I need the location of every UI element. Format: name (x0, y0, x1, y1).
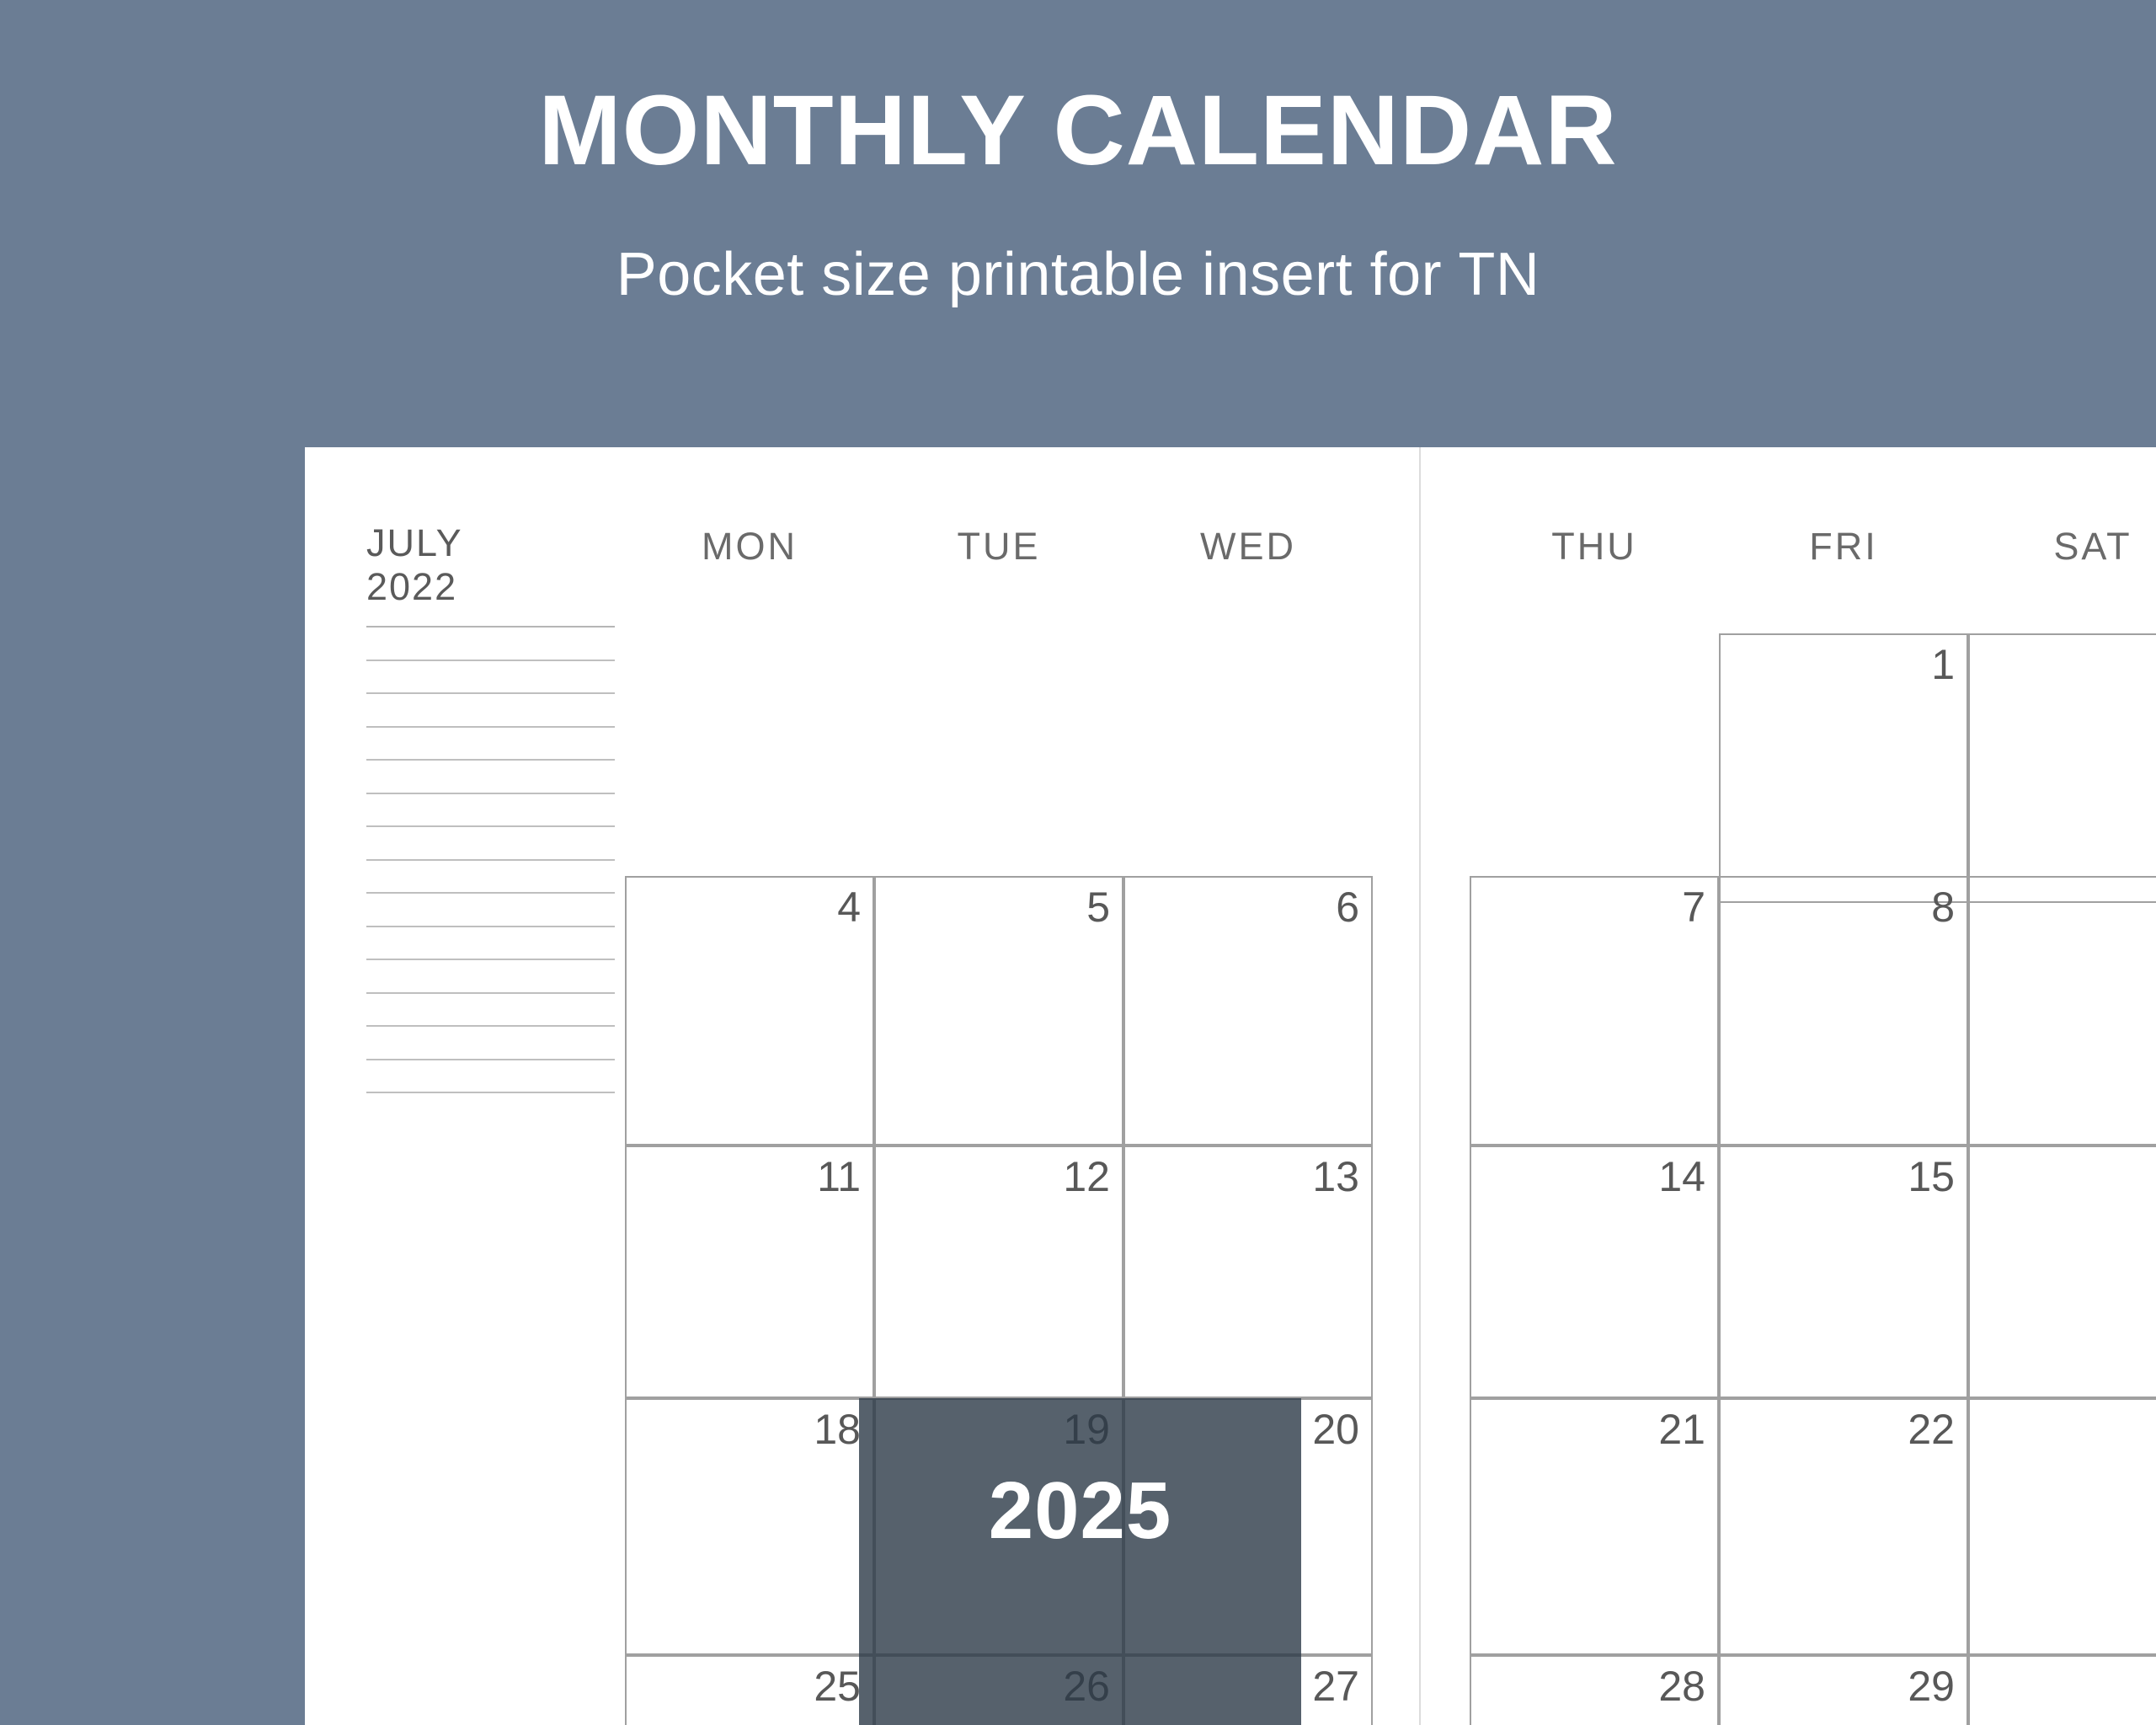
date-number: 6 (1336, 883, 1359, 932)
year-overlay-label: 2025 (859, 1471, 1301, 1551)
date-cell-wed-w3[interactable]: 13 (1123, 1146, 1373, 1398)
calendar-page-sheet: JULY 2022 MON TUE WED THU FRI SAT 1 4 5 … (305, 447, 2156, 1725)
date-number: 15 (1908, 1152, 1955, 1201)
date-cell-thu-w2[interactable]: 7 (1470, 876, 1719, 1146)
date-number: 1 (1931, 640, 1955, 689)
header-band: MONTHLY CALENDAR Pocket size printable i… (0, 0, 2156, 447)
date-number: 4 (837, 883, 861, 932)
sidebar-note-line[interactable] (366, 1059, 615, 1060)
date-cell-fri-w2[interactable]: 8 (1719, 876, 1968, 1146)
day-header-thu: THU (1470, 521, 1719, 572)
day-header-tue: TUE (874, 521, 1123, 572)
day-header-mon: MON (625, 521, 874, 572)
sidebar-note-line[interactable] (366, 959, 615, 960)
date-number: 27 (1312, 1662, 1359, 1711)
date-cell-mon-w5[interactable]: 25 (625, 1655, 874, 1725)
date-number: 28 (1658, 1662, 1705, 1711)
date-cell-tue-w3[interactable]: 12 (874, 1146, 1123, 1398)
date-number: 29 (1908, 1662, 1955, 1711)
date-number: 22 (1908, 1405, 1955, 1454)
sidebar-note-line[interactable] (366, 726, 615, 728)
date-cell-wed-w2[interactable]: 6 (1123, 876, 1373, 1146)
date-number: 5 (1086, 883, 1110, 932)
date-number: 21 (1658, 1405, 1705, 1454)
date-cell-mon-w4[interactable]: 18 (625, 1398, 874, 1655)
date-cell-sat-w1[interactable] (1968, 633, 2156, 903)
date-cell-thu-w5[interactable]: 28 (1470, 1655, 1719, 1725)
date-cell-sat-w2[interactable] (1968, 876, 2156, 1146)
date-cell-tue-w2[interactable]: 5 (874, 876, 1123, 1146)
sidebar-note-line[interactable] (366, 926, 615, 927)
date-number: 20 (1312, 1405, 1359, 1454)
date-number: 18 (814, 1405, 861, 1454)
date-cell-thu-w3[interactable]: 14 (1470, 1146, 1719, 1398)
date-number: 11 (817, 1152, 861, 1201)
date-cell-fri-w4[interactable]: 22 (1719, 1398, 1968, 1655)
date-cell-fri-w1[interactable]: 1 (1719, 633, 1968, 903)
date-cell-mon-w2[interactable]: 4 (625, 876, 874, 1146)
date-cell-mon-w3[interactable]: 11 (625, 1146, 874, 1398)
date-number: 7 (1682, 883, 1705, 932)
sidebar-notes-lines (366, 447, 615, 1725)
sidebar-note-line[interactable] (366, 992, 615, 994)
day-header-sat: SAT (1968, 521, 2156, 572)
date-number: 25 (814, 1662, 861, 1711)
sidebar-note-line[interactable] (366, 1025, 615, 1027)
sidebar-note-line[interactable] (366, 660, 615, 661)
date-number: 12 (1063, 1152, 1110, 1201)
sidebar-note-line[interactable] (366, 759, 615, 761)
sidebar-note-line[interactable] (366, 892, 615, 894)
page-subtitle: Pocket size printable insert for TN (0, 244, 2156, 305)
sidebar-note-line[interactable] (366, 825, 615, 827)
sidebar-note-line[interactable] (366, 692, 615, 694)
date-number: 8 (1931, 883, 1955, 932)
day-header-wed: WED (1123, 521, 1373, 572)
year-overlay-badge: 2025 (859, 1398, 1301, 1725)
date-cell-fri-w5[interactable]: 29 (1719, 1655, 1968, 1725)
day-header-fri: FRI (1719, 521, 1968, 572)
date-number: 14 (1658, 1152, 1705, 1201)
date-cell-sat-w3[interactable] (1968, 1146, 2156, 1398)
date-cell-sat-w5[interactable] (1968, 1655, 2156, 1725)
date-cell-thu-w4[interactable]: 21 (1470, 1398, 1719, 1655)
sidebar-note-line[interactable] (366, 793, 615, 794)
date-cell-sat-w4[interactable] (1968, 1398, 2156, 1655)
page-gutter-divider (1419, 447, 1421, 1725)
sidebar-note-line[interactable] (366, 859, 615, 861)
date-cell-fri-w3[interactable]: 15 (1719, 1146, 1968, 1398)
page-title: MONTHLY CALENDAR (0, 81, 2156, 180)
sidebar-note-line[interactable] (366, 1092, 615, 1093)
date-number: 13 (1312, 1152, 1359, 1201)
